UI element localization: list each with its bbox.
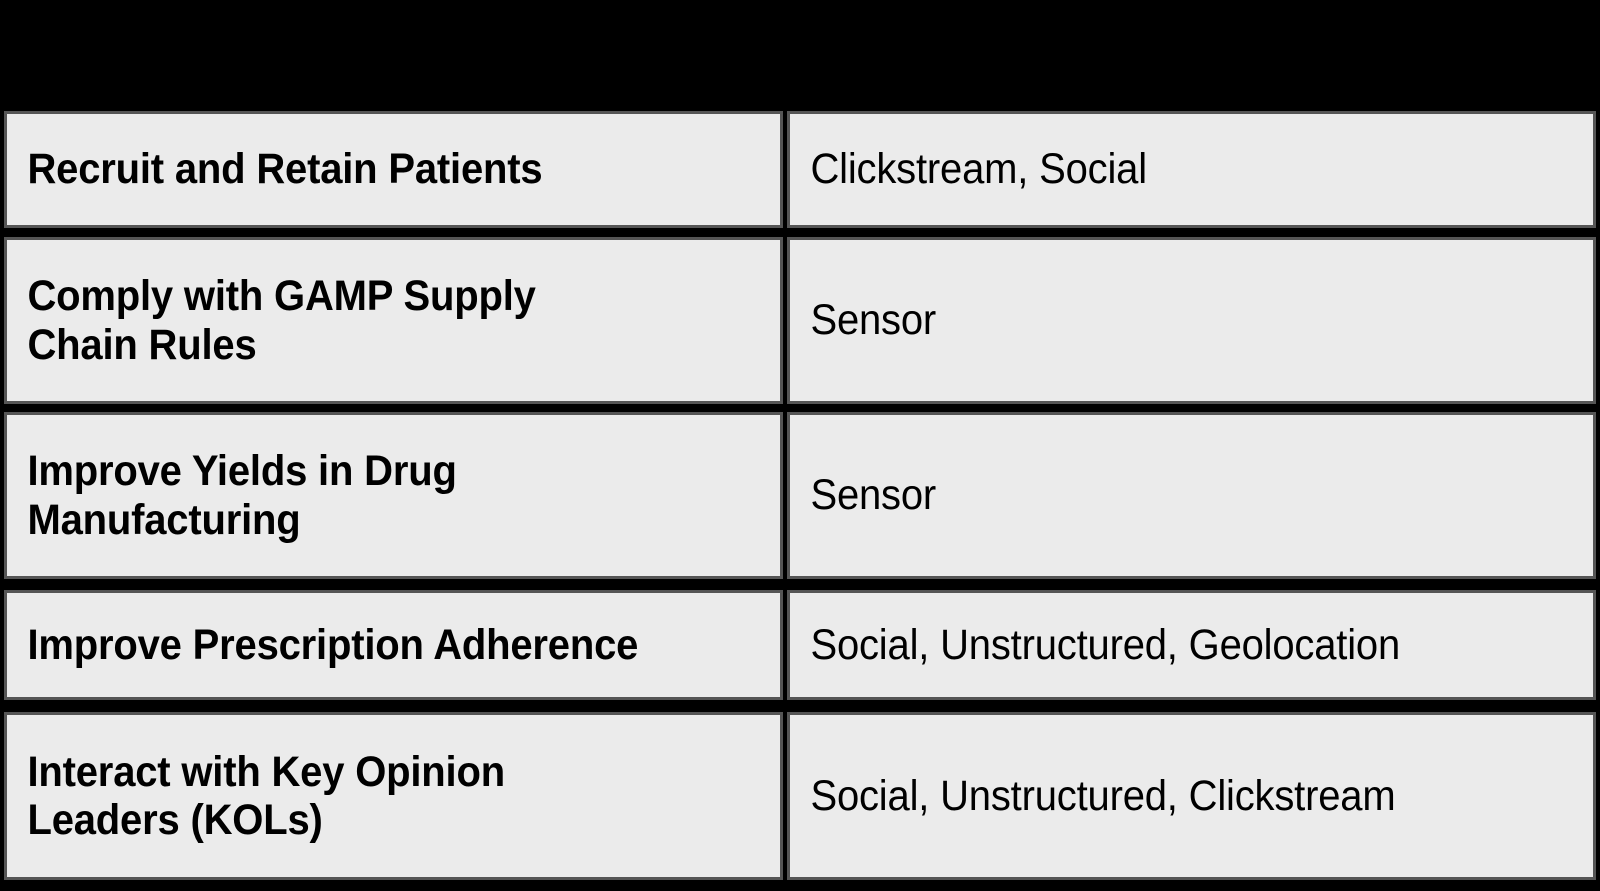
table-row: Recruit and Retain Patients Clickstream,… [0, 111, 1600, 228]
table-cell-data-types[interactable]: Clickstream, Social [787, 111, 1596, 228]
table-row: Interact with Key Opinion Leaders (KOLs)… [0, 712, 1600, 880]
table-cell-data-types[interactable]: Social, Unstructured, Geolocation [787, 590, 1596, 700]
use-case-label: Comply with GAMP Supply Chain Rules [7, 272, 539, 368]
table-row: Improve Yields in Drug Manufacturing Sen… [0, 412, 1600, 579]
use-case-label: Recruit and Retain Patients [7, 145, 546, 193]
top-black-band [0, 0, 1600, 111]
use-case-label: Interact with Key Opinion Leaders (KOLs) [7, 748, 509, 844]
data-types-label: Social, Unstructured, Clickstream [790, 772, 1399, 820]
table-cell-use-case[interactable]: Improve Prescription Adherence [4, 590, 783, 700]
data-types-label: Sensor [790, 471, 940, 519]
table-row: Comply with GAMP Supply Chain Rules Sens… [0, 237, 1600, 404]
table-cell-use-case[interactable]: Interact with Key Opinion Leaders (KOLs) [4, 712, 783, 880]
data-types-label: Social, Unstructured, Geolocation [790, 621, 1404, 669]
table-cell-data-types[interactable]: Sensor [787, 237, 1596, 404]
data-types-label: Sensor [790, 296, 940, 344]
table-cell-data-types[interactable]: Social, Unstructured, Clickstream [787, 712, 1596, 880]
table-row: Improve Prescription Adherence Social, U… [0, 590, 1600, 700]
table-cell-use-case[interactable]: Recruit and Retain Patients [4, 111, 783, 228]
table-cell-use-case[interactable]: Improve Yields in Drug Manufacturing [4, 412, 783, 579]
use-case-data-type-table: Recruit and Retain Patients Clickstream,… [0, 111, 1600, 891]
use-case-label: Improve Prescription Adherence [7, 621, 642, 669]
use-case-label: Improve Yields in Drug Manufacturing [7, 447, 460, 543]
data-types-label: Clickstream, Social [790, 145, 1151, 193]
table-cell-data-types[interactable]: Sensor [787, 412, 1596, 579]
table-cell-use-case[interactable]: Comply with GAMP Supply Chain Rules [4, 237, 783, 404]
